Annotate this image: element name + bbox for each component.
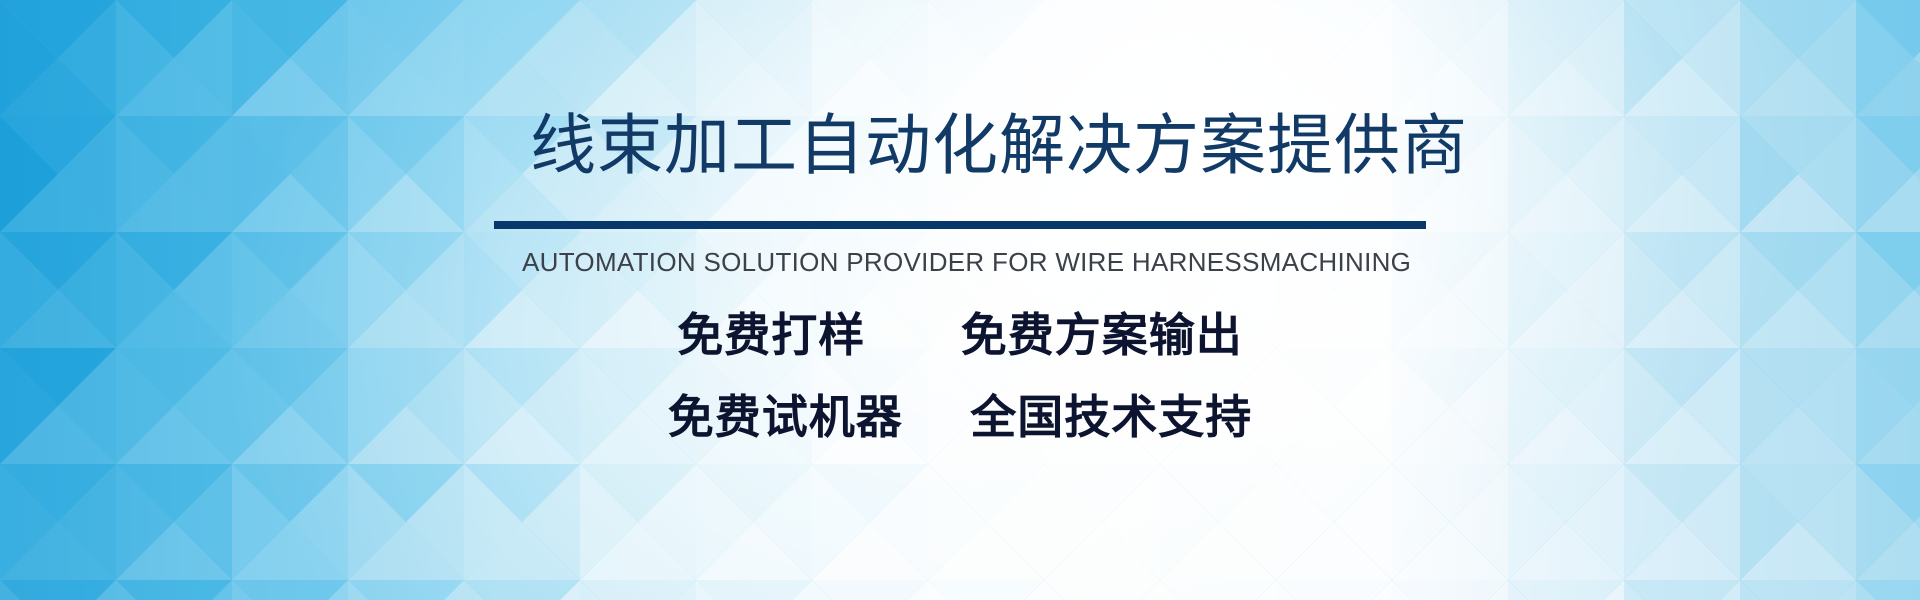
headline-divider: [494, 221, 1426, 229]
promo-free-sampling: 免费打样: [677, 309, 865, 361]
promo-line-2: 免费试机器 全国技术支持: [430, 394, 1490, 440]
promo-line-1: 免费打样 免费方案输出: [430, 312, 1490, 358]
banner-headline: 线束加工自动化解决方案提供商: [530, 112, 1468, 178]
banner-content: 线束加工自动化解决方案提供商 AUTOMATION SOLUTION PROVI…: [0, 0, 1920, 600]
promo-free-solution: 免费方案输出: [961, 309, 1243, 361]
promo-free-trial: 免费试机器: [668, 391, 903, 443]
banner-subheadline: AUTOMATION SOLUTION PROVIDER FOR WIRE HA…: [522, 248, 1402, 277]
hero-banner: 线束加工自动化解决方案提供商 AUTOMATION SOLUTION PROVI…: [0, 0, 1920, 600]
promo-nationwide-support: 全国技术支持: [970, 391, 1252, 443]
